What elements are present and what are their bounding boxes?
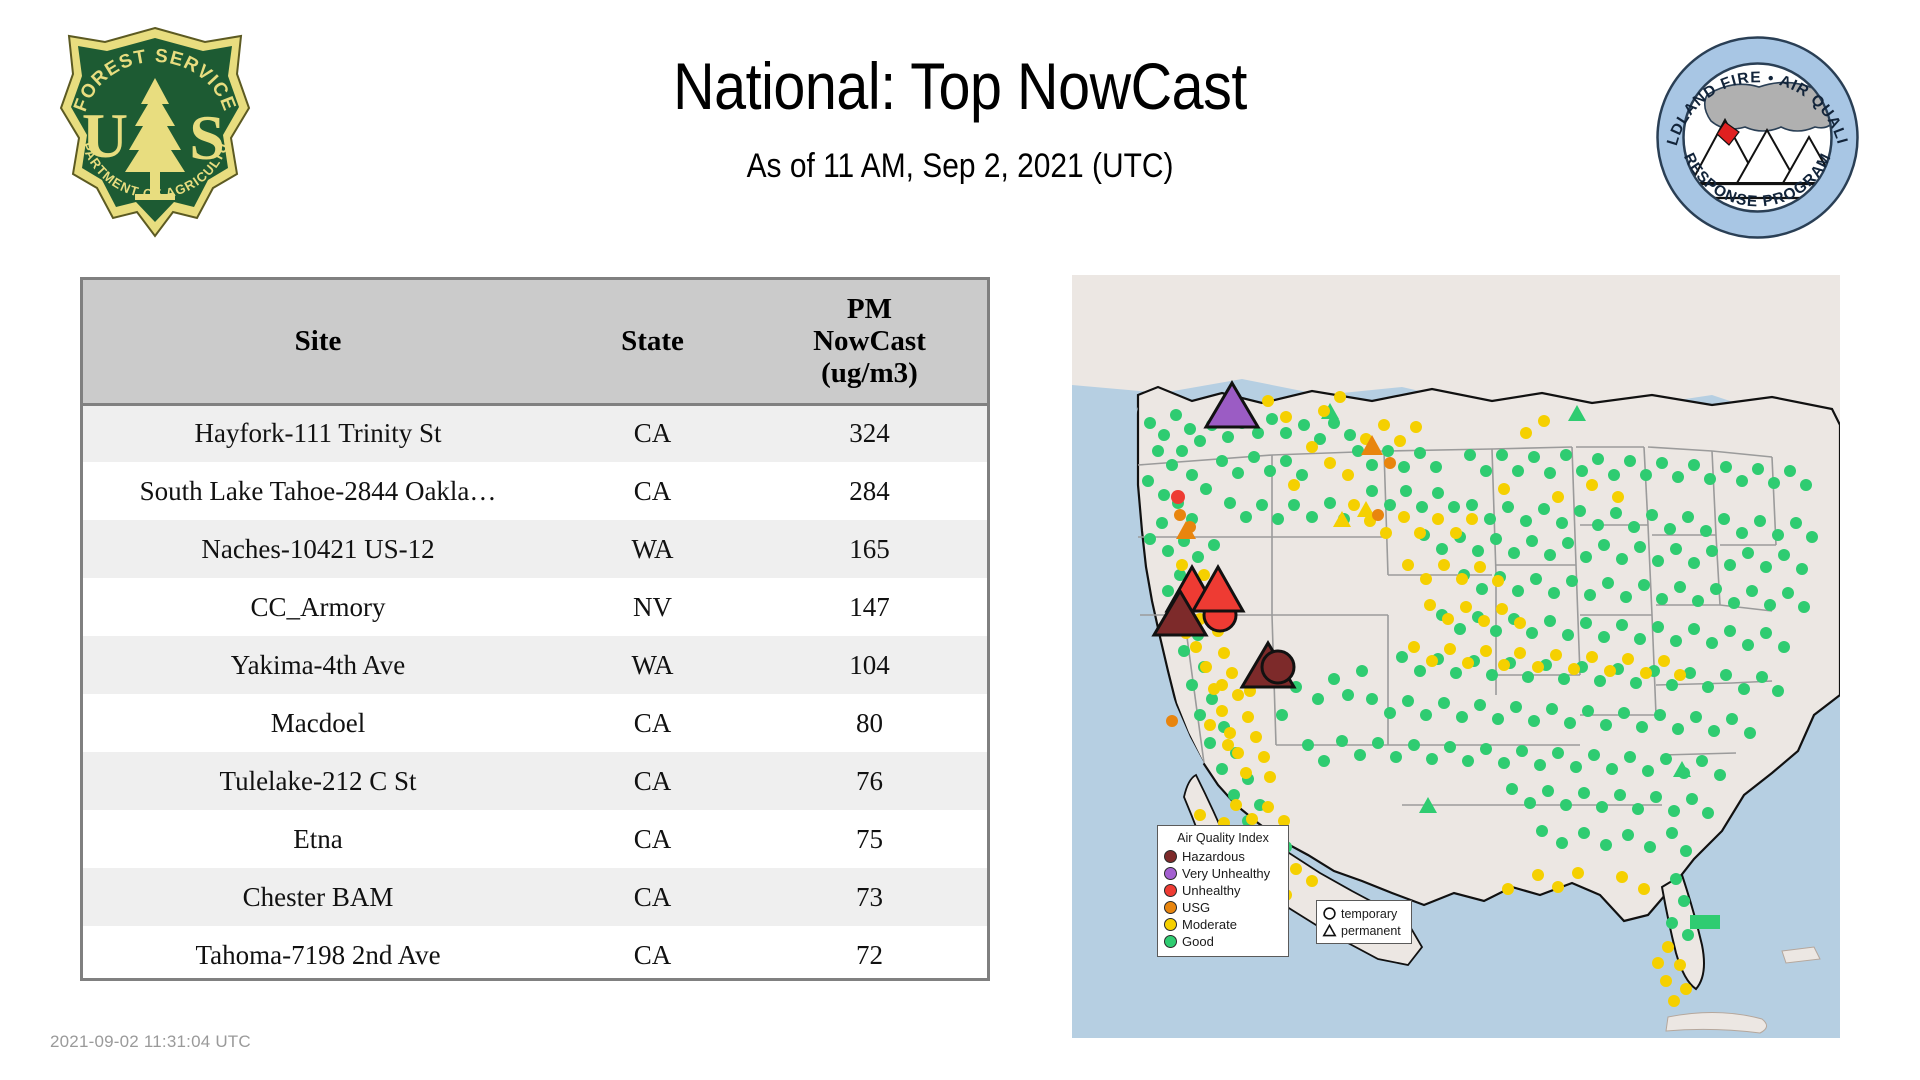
top-nowcast-table-container: Site State PM NowCast (ug/m3) Hayfork-11… bbox=[80, 277, 990, 981]
cell-state: WA bbox=[553, 520, 752, 578]
unhealthy-swatch-icon bbox=[1164, 884, 1177, 897]
cell-site: Hayfork-111 Trinity St bbox=[83, 404, 553, 462]
table-row: South Lake Tahoe-2844 Oakla… CA 284 bbox=[83, 462, 987, 520]
usfs-letter-u: U bbox=[82, 100, 128, 171]
inset-marker-block bbox=[1690, 915, 1720, 929]
table-row: Tahoma-7198 2nd Ave CA 72 bbox=[83, 926, 987, 984]
usfs-shield-logo: FOREST SERVICE DEPARTMENT OF AGRICULTURE… bbox=[55, 22, 255, 244]
cell-site: CC_Armory bbox=[83, 578, 553, 636]
wfaqrp-logo: WILDLAND FIRE • AIR QUALITY RESPONSE PRO… bbox=[1655, 35, 1860, 240]
table-header-row: Site State PM NowCast (ug/m3) bbox=[83, 280, 987, 404]
column-header-pm-line1: PM bbox=[756, 293, 983, 325]
legend-label: USG bbox=[1182, 901, 1210, 914]
column-header-pm-line2: NowCast bbox=[756, 325, 983, 357]
aqi-map[interactable]: Air Quality Index Hazardous Very Unhealt… bbox=[1072, 275, 1840, 1038]
legend-item-good: Good bbox=[1164, 933, 1282, 950]
table-row: CC_Armory NV 147 bbox=[83, 578, 987, 636]
cell-site: Tulelake-212 C St bbox=[83, 752, 553, 810]
table-row: Tulelake-212 C St CA 76 bbox=[83, 752, 987, 810]
cell-pm: 104 bbox=[752, 636, 987, 694]
legend-item-temporary: temporary bbox=[1322, 905, 1406, 922]
cell-site: Naches-10421 US-12 bbox=[83, 520, 553, 578]
cell-pm: 324 bbox=[752, 404, 987, 462]
table-row: Etna CA 75 bbox=[83, 810, 987, 868]
cell-site: South Lake Tahoe-2844 Oakla… bbox=[83, 462, 553, 520]
table-row: Hayfork-111 Trinity St CA 324 bbox=[83, 404, 987, 462]
slide-root: FOREST SERVICE DEPARTMENT OF AGRICULTURE… bbox=[0, 0, 1920, 1080]
very-unhealthy-swatch-icon bbox=[1164, 867, 1177, 880]
cell-site: Etna bbox=[83, 810, 553, 868]
title-block: National: Top NowCast As of 11 AM, Sep 2… bbox=[300, 52, 1620, 186]
legend-label: Unhealthy bbox=[1182, 884, 1241, 897]
cell-site: Tahoma-7198 2nd Ave bbox=[83, 926, 553, 984]
cell-state: CA bbox=[553, 810, 752, 868]
usfs-letter-s: S bbox=[189, 102, 225, 173]
legend-item-unhealthy: Unhealthy bbox=[1164, 882, 1282, 899]
cell-state: CA bbox=[553, 926, 752, 984]
table-row: Naches-10421 US-12 WA 165 bbox=[83, 520, 987, 578]
good-swatch-icon bbox=[1164, 935, 1177, 948]
aqi-legend: Air Quality Index Hazardous Very Unhealt… bbox=[1157, 825, 1289, 957]
legend-label: Moderate bbox=[1182, 918, 1237, 931]
cell-pm: 165 bbox=[752, 520, 987, 578]
column-header-pm-nowcast[interactable]: PM NowCast (ug/m3) bbox=[752, 280, 987, 404]
aqi-legend-title: Air Quality Index bbox=[1164, 831, 1282, 845]
monitor-type-legend: temporary permanent bbox=[1316, 900, 1412, 944]
column-header-pm-line3: (ug/m3) bbox=[756, 357, 983, 389]
table-row: Yakima-4th Ave WA 104 bbox=[83, 636, 987, 694]
legend-label: Hazardous bbox=[1182, 850, 1245, 863]
legend-item-moderate: Moderate bbox=[1164, 916, 1282, 933]
circle-marker-icon bbox=[1322, 906, 1337, 921]
legend-label: Very Unhealthy bbox=[1182, 867, 1270, 880]
cell-pm: 76 bbox=[752, 752, 987, 810]
legend-item-usg: USG bbox=[1164, 899, 1282, 916]
cell-state: WA bbox=[553, 636, 752, 694]
table-row: Macdoel CA 80 bbox=[83, 694, 987, 752]
legend-label: Good bbox=[1182, 935, 1214, 948]
page-subtitle: As of 11 AM, Sep 2, 2021 (UTC) bbox=[379, 147, 1541, 186]
cell-site: Chester BAM bbox=[83, 868, 553, 926]
triangle-marker-icon bbox=[1322, 923, 1337, 938]
cell-pm: 75 bbox=[752, 810, 987, 868]
cell-state: CA bbox=[553, 694, 752, 752]
hazardous-swatch-icon bbox=[1164, 850, 1177, 863]
cell-site: Yakima-4th Ave bbox=[83, 636, 553, 694]
legend-item-hazardous: Hazardous bbox=[1164, 848, 1282, 865]
cell-pm: 73 bbox=[752, 868, 987, 926]
legend-item-permanent: permanent bbox=[1322, 922, 1406, 939]
table-row: Chester BAM CA 73 bbox=[83, 868, 987, 926]
cell-pm: 147 bbox=[752, 578, 987, 636]
column-header-state[interactable]: State bbox=[553, 280, 752, 404]
page-title: National: Top NowCast bbox=[386, 52, 1534, 121]
usg-swatch-icon bbox=[1164, 901, 1177, 914]
cell-state: CA bbox=[553, 404, 752, 462]
cell-state: CA bbox=[553, 462, 752, 520]
cell-pm: 80 bbox=[752, 694, 987, 752]
table-body: Hayfork-111 Trinity St CA 324 South Lake… bbox=[83, 404, 987, 984]
cell-state: NV bbox=[553, 578, 752, 636]
cell-pm: 284 bbox=[752, 462, 987, 520]
cell-pm: 72 bbox=[752, 926, 987, 984]
footer-timestamp: 2021-09-02 11:31:04 UTC bbox=[50, 1032, 251, 1052]
cell-site: Macdoel bbox=[83, 694, 553, 752]
moderate-swatch-icon bbox=[1164, 918, 1177, 931]
legend-item-very-unhealthy: Very Unhealthy bbox=[1164, 865, 1282, 882]
column-header-site[interactable]: Site bbox=[83, 280, 553, 404]
top-nowcast-table: Site State PM NowCast (ug/m3) Hayfork-11… bbox=[83, 280, 987, 984]
legend-label: permanent bbox=[1341, 924, 1401, 938]
cell-state: CA bbox=[553, 868, 752, 926]
legend-label: temporary bbox=[1341, 907, 1397, 921]
cell-state: CA bbox=[553, 752, 752, 810]
